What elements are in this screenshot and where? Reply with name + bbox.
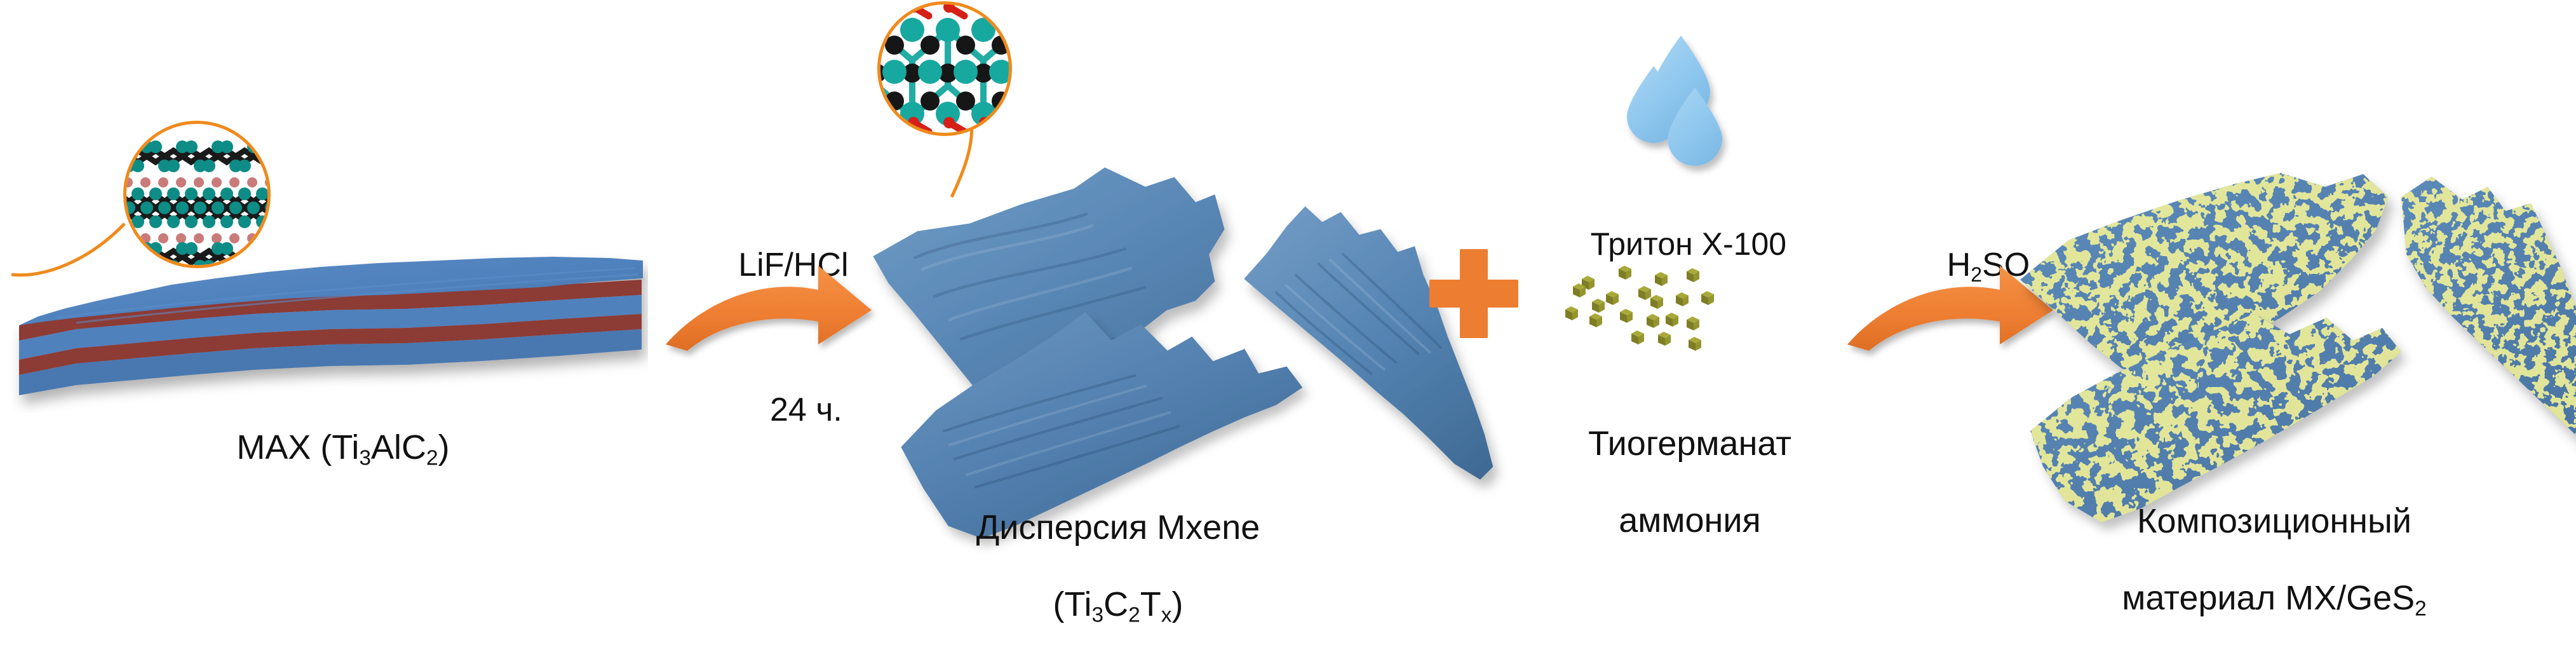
mxene-flake-3 [896,305,1315,496]
etching-time-text: 24 ч. [770,391,842,428]
thiogermanate-label: Тиогерманат аммония [1506,386,1836,578]
mxene-dispersion-label-line1: Дисперсия Mxene [976,508,1260,547]
plus-vertical-bar [1460,249,1488,338]
mxene-dispersion-label: Дисперсия Mxene (Ti3C2Tx) [864,470,1334,666]
thiogermanate-label-line2: аммония [1619,501,1761,540]
max-phase-slab [0,248,648,413]
max-phase-atomic-inset [123,121,271,268]
triton-label-text: Тритон X-100 [1591,226,1787,262]
plus-sign-icon [1429,249,1518,338]
thiogermanate-cubes-icon [1556,259,1772,380]
water-droplets-icon [1563,6,1779,197]
max-phase-label: MAX (Ti3AlC2) [64,390,584,509]
composite-label-line2: материал MX/GeS2 [2122,579,2427,617]
composite-label: Композиционный материал MX/GeS2 [1982,464,2528,660]
thiogermanate-label-line1: Тиогерманат [1588,425,1791,463]
composite-label-line1: Композиционный [2137,502,2411,540]
max-phase-label-text: MAX (Ti3AlC2) [236,428,449,466]
mxene-dispersion-label-line2: (Ti3C2Tx) [1053,585,1183,623]
mxene-atomic-inset [877,1,1012,136]
diagram-canvas: MAX (Ti3AlC2) LiF/HCl 24 ч. [0,0,2576,604]
